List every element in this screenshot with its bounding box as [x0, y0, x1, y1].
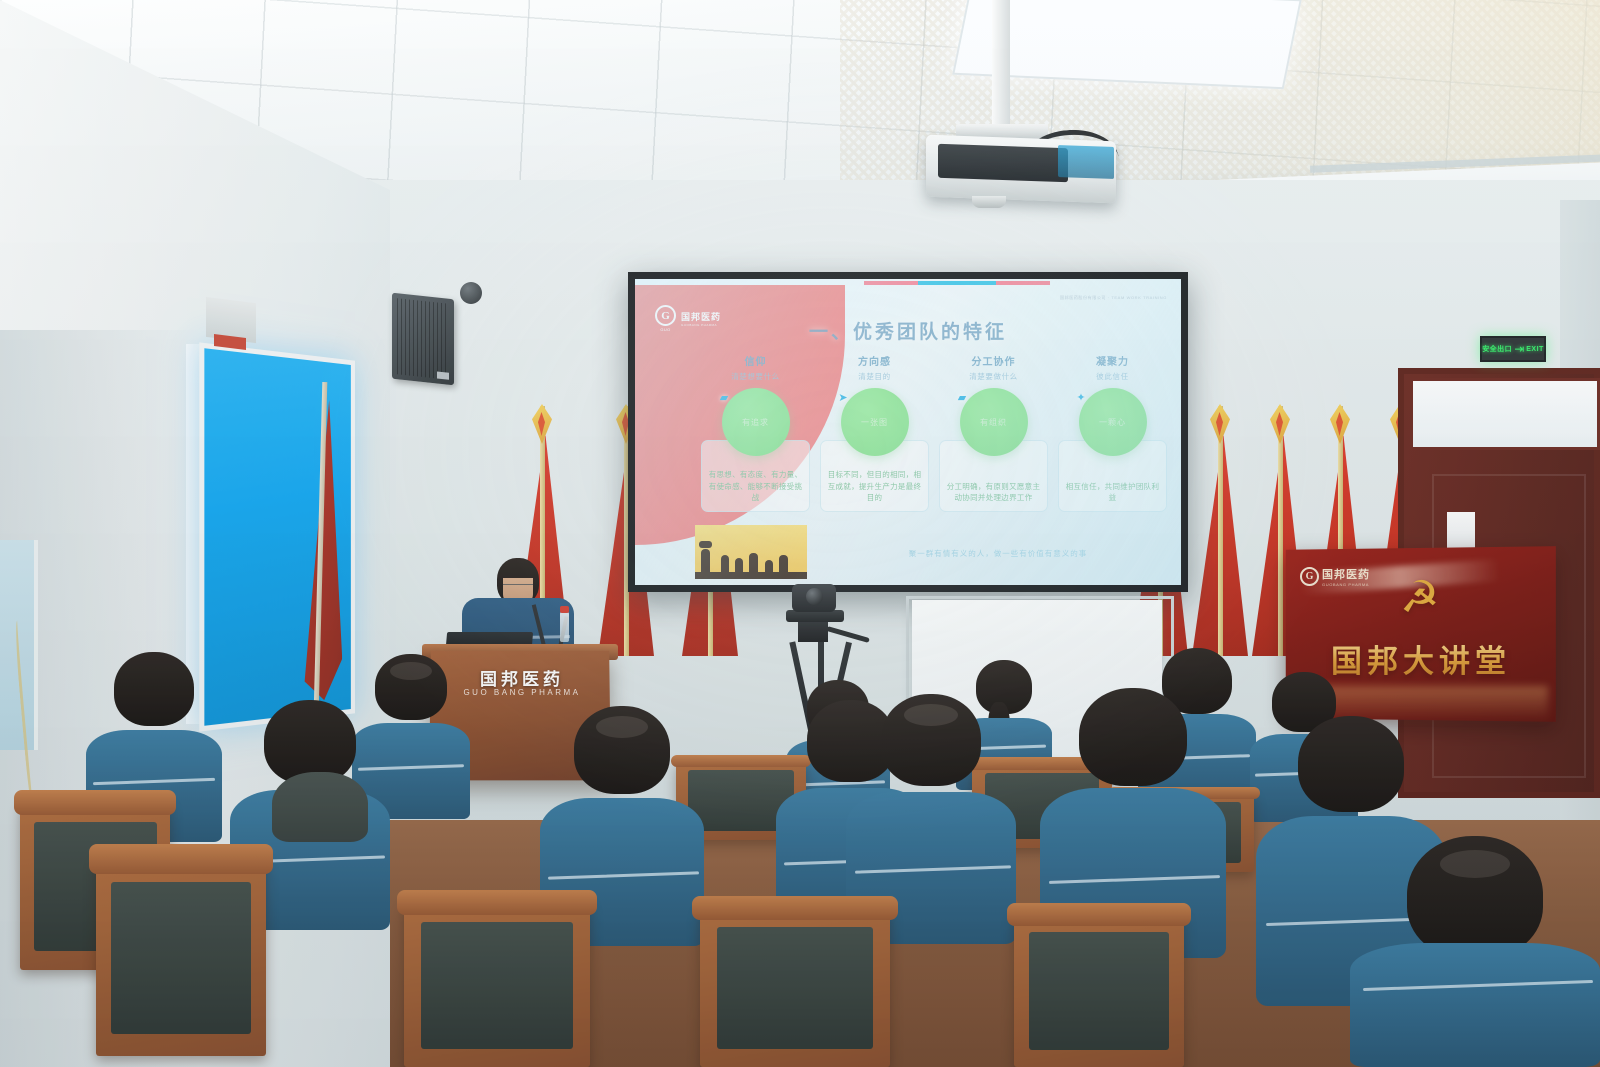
column-bubble: 有追求: [722, 388, 790, 456]
column-body-text: 有思想、有态度、有力量、有使命感、能够不断接受挑战: [708, 469, 803, 504]
exit-running-man-icon: ⇥: [1514, 343, 1524, 355]
team-silhouette-photo: [695, 525, 807, 579]
slide-top-color-bar: [864, 281, 1050, 285]
briefcase-icon: ▰: [718, 392, 731, 405]
bubble-label: 一颗心: [1099, 417, 1126, 428]
column-heading: 凝聚力: [1096, 353, 1129, 368]
hoodie-collar: [272, 772, 368, 842]
topbar-segment-pink-right: [996, 281, 1050, 285]
lecture-hall-photo: G GUO 国邦医药 GUOBANG PHARMA 国邦医药股份有限公司 · T…: [0, 0, 1600, 1067]
wall-speaker: [392, 293, 454, 386]
banner-logo-en: GUOBANG PHARMA: [1322, 582, 1370, 587]
water-bottle: [560, 612, 569, 642]
slide-header-note: 国邦医药股份有限公司 · TEAM WORK TRAINING: [1060, 295, 1167, 301]
podium-label-en: GUO BANG PHARMA: [452, 688, 592, 697]
topbar-segment-cyan: [918, 281, 996, 285]
exit-sign-en: EXIT: [1526, 346, 1544, 353]
audience-chair: [96, 856, 266, 1056]
column-bubble: 一颗心: [1079, 388, 1147, 456]
column-bubble: 一张图: [841, 388, 909, 456]
projector-port-panel: [938, 144, 1068, 183]
audience-member: [1350, 836, 1600, 1067]
bubble-label: 有追求: [742, 417, 769, 428]
projector-mount-pole: [992, 0, 1010, 130]
projector-lens: [972, 196, 1006, 208]
slide-title: 一、优秀团队的特征: [635, 317, 1181, 344]
door-transom-window: [1410, 378, 1600, 450]
banner-logo-mark: G: [1300, 567, 1319, 586]
paper-plane-icon: ➤: [837, 392, 850, 405]
topbar-segment-pink-left: [864, 281, 918, 285]
emergency-exit-sign: 安全出口 ⇥ EXIT: [1480, 336, 1546, 362]
column-subheading: 清楚目的: [858, 371, 890, 382]
banner-logo-cn: 国邦医药: [1322, 566, 1370, 582]
projection-screen: G GUO 国邦医药 GUOBANG PHARMA 国邦医药股份有限公司 · T…: [628, 272, 1188, 592]
column-heading: 方向感: [858, 353, 891, 368]
slide-surface: G GUO 国邦医药 GUOBANG PHARMA 国邦医药股份有限公司 · T…: [635, 279, 1181, 585]
presenter-glasses: [503, 584, 533, 591]
slide-columns: 信仰 清楚想要什么 有追求 ▰ 有思想、有态度、有力量、有使命感、能够不断接受挑…: [701, 353, 1167, 512]
thumbs-up-icon: ✦: [1075, 392, 1088, 405]
column-subheading: 清楚要做什么: [969, 371, 1018, 382]
slide-column: 信仰 清楚想要什么 有追求 ▰ 有思想、有态度、有力量、有使命感、能够不断接受挑…: [701, 353, 810, 512]
column-body-text: 分工明确，有原则又愿意主动协同并处理边界工作: [946, 481, 1041, 504]
slide-column: 分工协作 清楚要做什么 有组织 ▰ 分工明确，有原则又愿意主动协同并处理边界工作: [939, 353, 1048, 512]
column-subheading: 彼此信任: [1096, 371, 1128, 382]
audience-chair: [1014, 912, 1184, 1067]
column-subheading: 清楚想要什么: [731, 371, 780, 382]
podium-label-cn: 国邦医药: [452, 665, 592, 690]
camera-lens: [806, 588, 823, 605]
banner-company-logo: G 国邦医药 GUOBANG PHARMA: [1300, 566, 1370, 587]
bubble-label: 有组织: [980, 417, 1007, 428]
column-body-text: 相互信任，共同维护团队利益: [1065, 481, 1160, 504]
dome-camera-icon: [460, 282, 482, 304]
column-body-text: 目标不同，但目的相同，相互成就，提升生产力是最终目的: [827, 469, 922, 504]
audience-chair: [404, 900, 590, 1067]
water-bottle-cap: [560, 606, 569, 613]
slide-column: 方向感 清楚目的 一张图 ➤ 目标不同，但目的相同，相互成就，提升生产力是最终目…: [820, 353, 929, 512]
audience-chair: [700, 906, 890, 1067]
party-emblem-icon: ☭: [1400, 572, 1462, 624]
decor-flag: [1192, 406, 1248, 656]
bubble-label: 一张图: [861, 417, 888, 428]
column-heading: 分工协作: [972, 353, 1016, 368]
exit-sign-cn: 安全出口: [1482, 344, 1512, 354]
slide-column: 凝聚力 彼此信任 一颗心 ✦ 相互信任，共同维护团队利益: [1058, 353, 1167, 512]
column-bubble: 有组织: [960, 388, 1028, 456]
projector-connector-block: [1058, 145, 1114, 179]
column-heading: 信仰: [745, 353, 767, 368]
slide-caption: 聚一群有情有义的人，做一些有价值有意义的事: [835, 548, 1161, 559]
briefcase-icon: ▰: [956, 392, 969, 405]
tripod-head: [798, 620, 828, 642]
